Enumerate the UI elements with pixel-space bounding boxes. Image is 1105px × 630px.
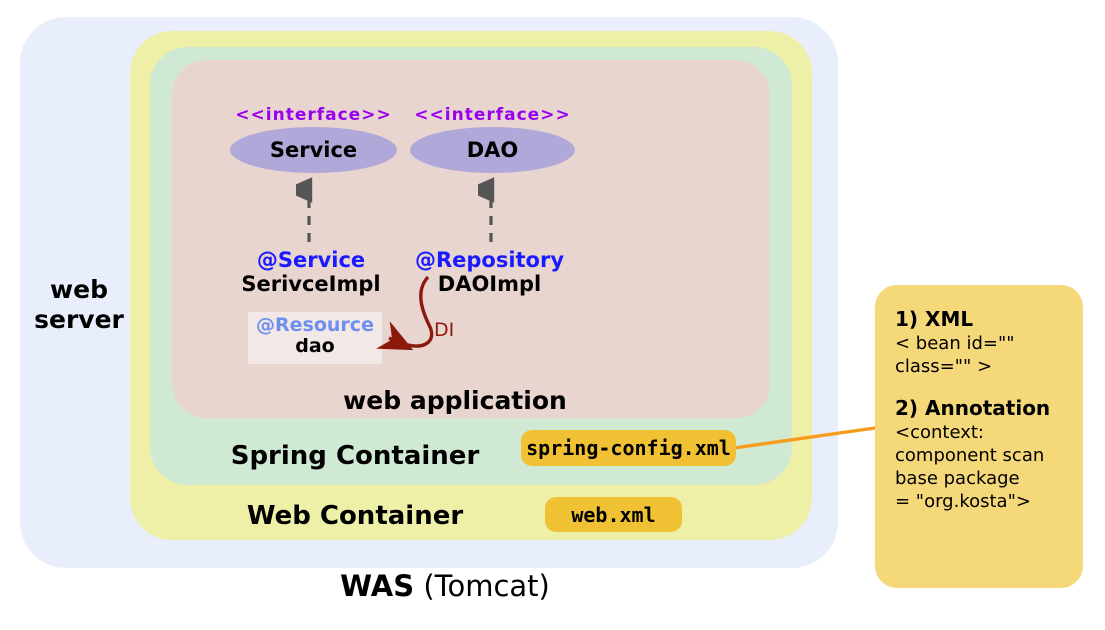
callout-item1-body: < bean id="" class="" >: [895, 332, 1083, 378]
web-server-label: web server: [28, 275, 130, 334]
service-ellipse: Service: [230, 127, 397, 173]
callout-item2-body: <context: component scan base package = …: [895, 421, 1083, 513]
web-container-label: Web Container: [200, 501, 510, 532]
dao-interface-label: DAO: [467, 138, 519, 162]
resource-field-label: dao: [248, 336, 382, 358]
diagram-canvas: web server web application Spring Contai…: [0, 0, 1105, 630]
service-stereotype-label: <<interface>>: [230, 105, 397, 125]
service-interface-label: Service: [270, 138, 357, 162]
di-injection-arrow-icon: [375, 265, 495, 365]
dao-stereotype-label: <<interface>>: [410, 105, 575, 125]
web-xml-badge[interactable]: web.xml: [545, 497, 682, 532]
was-caption-light: (Tomcat): [414, 569, 550, 603]
callout-spacer: [895, 378, 1083, 395]
web-application-label: web application: [300, 386, 610, 416]
service-realization-arrow-icon: [296, 176, 322, 244]
resource-annotation-label: @Resource: [248, 315, 382, 336]
was-caption-strong: WAS: [340, 569, 414, 603]
callout-item1-heading: 1) XML: [895, 306, 1083, 332]
was-caption: WAS (Tomcat): [230, 569, 660, 603]
dao-realization-arrow-icon: [478, 176, 504, 244]
dao-ellipse: DAO: [410, 127, 575, 173]
resource-field-box: @Resource dao: [248, 312, 382, 364]
callout-item2-heading: 2) Annotation: [895, 395, 1083, 421]
spring-container-label: Spring Container: [200, 441, 510, 472]
configuration-callout-box: 1) XML < bean id="" class="" > 2) Annota…: [875, 285, 1083, 588]
di-label: DI: [434, 319, 454, 341]
spring-config-xml-badge[interactable]: spring-config.xml: [521, 430, 736, 466]
